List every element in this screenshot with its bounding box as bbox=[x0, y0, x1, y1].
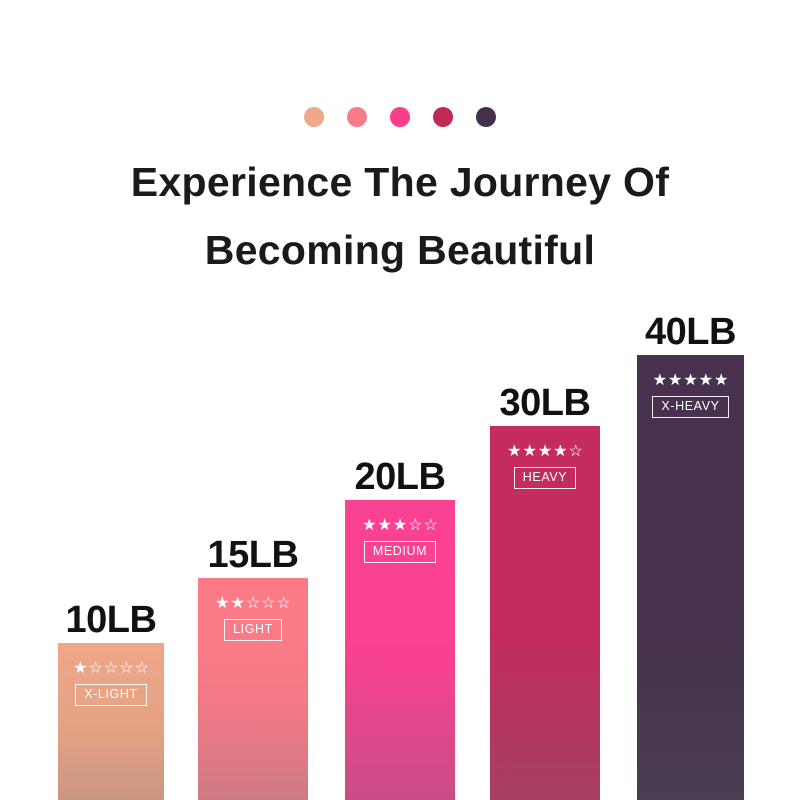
star-filled-icon: ★ bbox=[714, 373, 728, 389]
star-filled-icon: ★ bbox=[522, 444, 536, 460]
star-filled-icon: ★ bbox=[668, 373, 682, 389]
star-filled-icon: ★ bbox=[653, 373, 667, 389]
bar-20lb: ★★★☆☆MEDIUM bbox=[345, 500, 455, 800]
bar-weight-label-4: 30LB bbox=[500, 384, 591, 424]
bar-40lb: ★★★★★X-HEAVY bbox=[637, 355, 744, 800]
bar-content-4: ★★★★☆HEAVY bbox=[490, 444, 600, 489]
star-filled-icon: ★ bbox=[538, 444, 552, 460]
bar-bottom-shadow-3 bbox=[345, 640, 455, 800]
star-empty-icon: ☆ bbox=[246, 596, 260, 612]
bar-10lb: ★☆☆☆☆X-LIGHT bbox=[58, 643, 164, 800]
bar-weight-label-1: 10LB bbox=[66, 601, 157, 641]
bar-15lb: ★★☆☆☆LIGHT bbox=[198, 578, 308, 800]
bar-weight-label-2: 15LB bbox=[208, 536, 299, 576]
star-filled-icon: ★ bbox=[683, 373, 697, 389]
bar-bottom-shadow-5 bbox=[637, 640, 744, 800]
bar-group-30lb[interactable]: 30LB★★★★☆HEAVY bbox=[490, 426, 600, 800]
bar-weight-label-3: 20LB bbox=[355, 458, 446, 498]
star-filled-icon: ★ bbox=[393, 518, 407, 534]
star-empty-icon: ☆ bbox=[104, 661, 118, 677]
star-filled-icon: ★ bbox=[377, 518, 391, 534]
star-filled-icon: ★ bbox=[362, 518, 376, 534]
bar-content-3: ★★★☆☆MEDIUM bbox=[345, 518, 455, 563]
star-rating-5: ★★★★★ bbox=[653, 373, 729, 389]
bar-group-10lb[interactable]: 10LB★☆☆☆☆X-LIGHT bbox=[58, 643, 164, 800]
star-rating-1: ★☆☆☆☆ bbox=[73, 661, 149, 677]
star-empty-icon: ☆ bbox=[424, 518, 438, 534]
bar-group-40lb[interactable]: 40LB★★★★★X-HEAVY bbox=[637, 355, 744, 800]
star-filled-icon: ★ bbox=[699, 373, 713, 389]
bar-content-2: ★★☆☆☆LIGHT bbox=[198, 596, 308, 641]
tier-badge-2: LIGHT bbox=[224, 619, 282, 641]
star-rating-3: ★★★☆☆ bbox=[362, 518, 438, 534]
bar-content-5: ★★★★★X-HEAVY bbox=[637, 373, 744, 418]
bar-30lb: ★★★★☆HEAVY bbox=[490, 426, 600, 800]
bar-group-15lb[interactable]: 15LB★★☆☆☆LIGHT bbox=[198, 578, 308, 800]
star-filled-icon: ★ bbox=[230, 596, 244, 612]
bar-group-20lb[interactable]: 20LB★★★☆☆MEDIUM bbox=[345, 500, 455, 800]
star-filled-icon: ★ bbox=[553, 444, 567, 460]
tier-badge-3: MEDIUM bbox=[364, 541, 436, 563]
star-empty-icon: ☆ bbox=[277, 596, 291, 612]
star-rating-4: ★★★★☆ bbox=[507, 444, 583, 460]
star-empty-icon: ☆ bbox=[135, 661, 149, 677]
tier-badge-1: X-LIGHT bbox=[75, 684, 147, 706]
resistance-bar-chart: 10LB★☆☆☆☆X-LIGHT15LB★★☆☆☆LIGHT20LB★★★☆☆M… bbox=[0, 0, 800, 800]
tier-badge-4: HEAVY bbox=[514, 467, 576, 489]
star-empty-icon: ☆ bbox=[119, 661, 133, 677]
star-filled-icon: ★ bbox=[215, 596, 229, 612]
star-empty-icon: ☆ bbox=[88, 661, 102, 677]
star-empty-icon: ☆ bbox=[261, 596, 275, 612]
bar-bottom-shadow-4 bbox=[490, 640, 600, 800]
bar-content-1: ★☆☆☆☆X-LIGHT bbox=[58, 661, 164, 706]
star-filled-icon: ★ bbox=[73, 661, 87, 677]
bar-bottom-shadow-2 bbox=[198, 640, 308, 800]
star-empty-icon: ☆ bbox=[569, 444, 583, 460]
star-empty-icon: ☆ bbox=[408, 518, 422, 534]
product-infographic: Experience The Journey Of Becoming Beaut… bbox=[0, 0, 800, 800]
bar-weight-label-5: 40LB bbox=[645, 313, 736, 353]
star-filled-icon: ★ bbox=[507, 444, 521, 460]
tier-badge-5: X-HEAVY bbox=[652, 396, 728, 418]
star-rating-2: ★★☆☆☆ bbox=[215, 596, 291, 612]
